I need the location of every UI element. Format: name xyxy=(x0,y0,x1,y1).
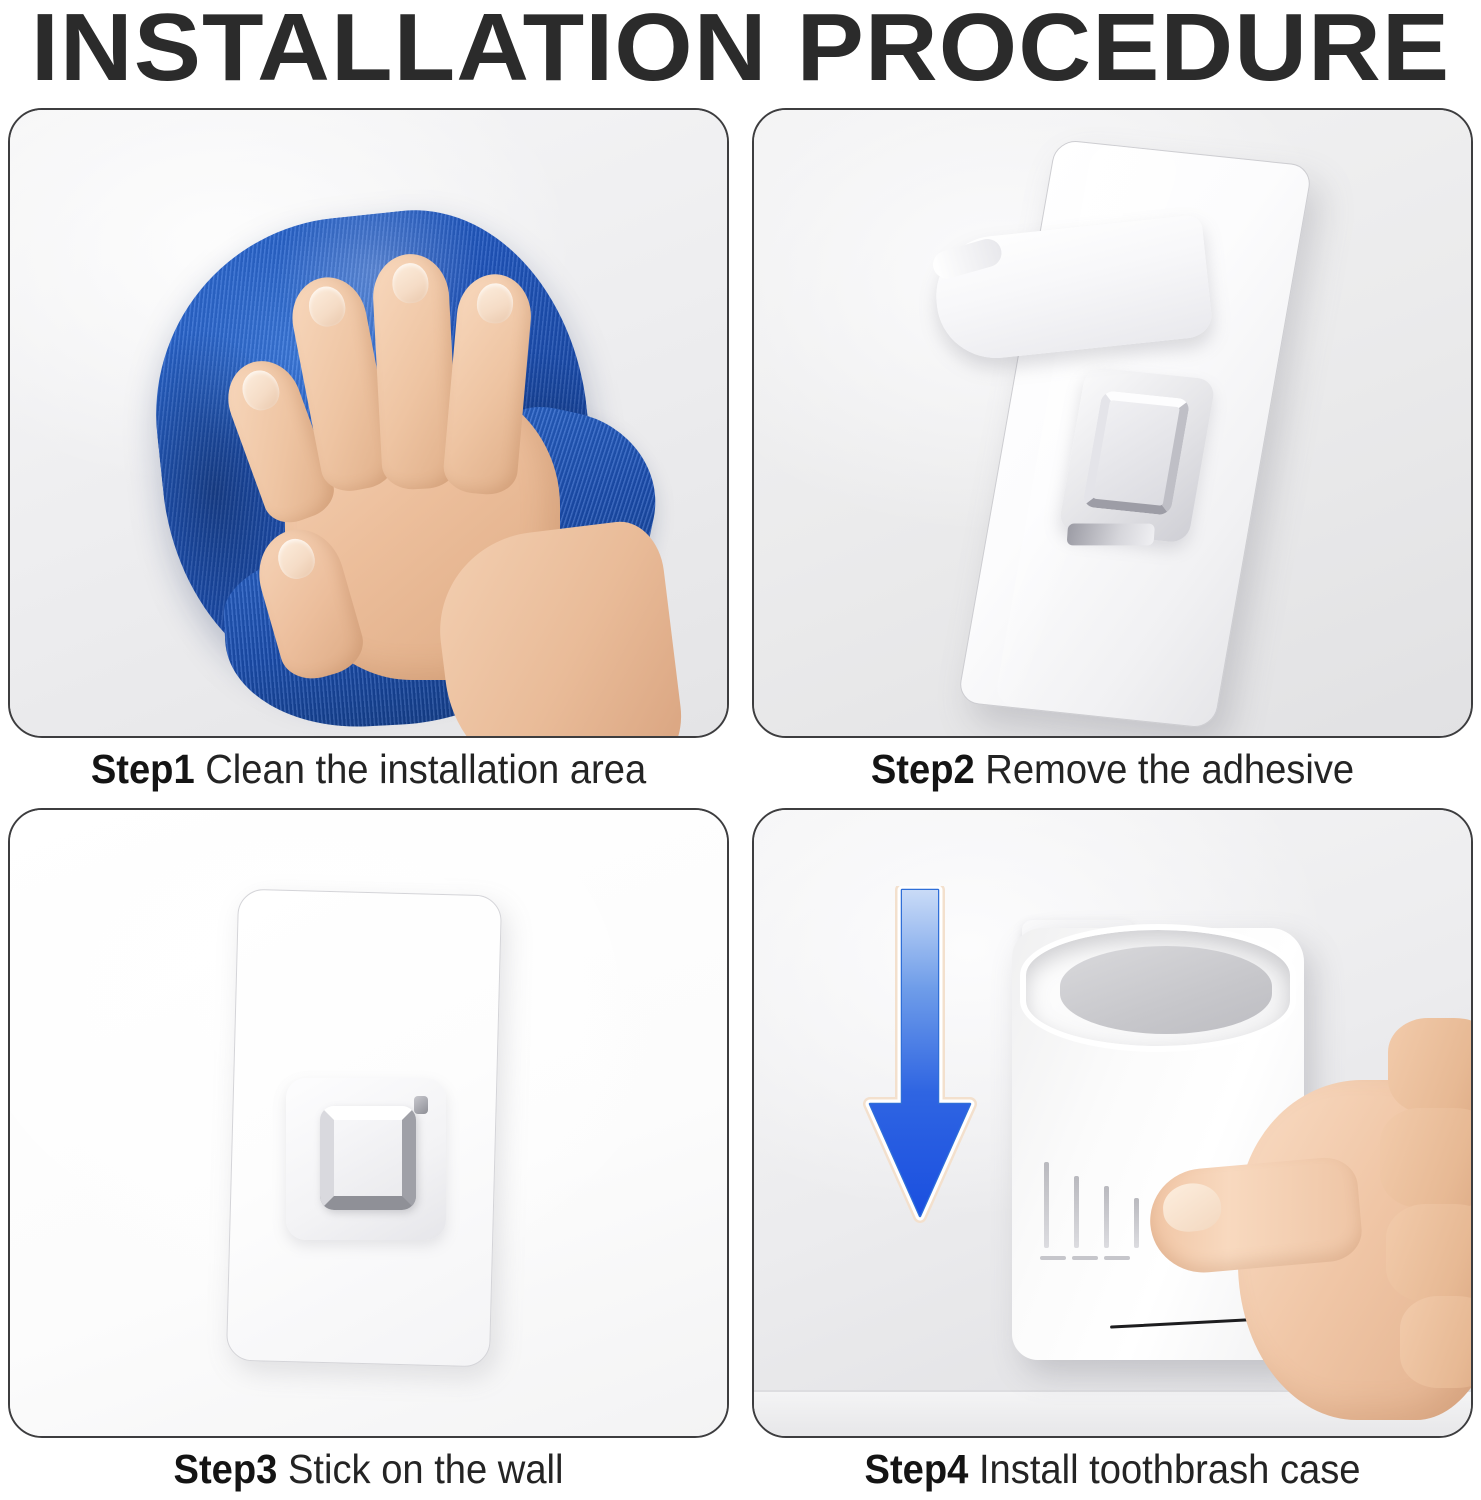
step-card-2: Step2 Remove the adhesive xyxy=(752,108,1473,798)
slot-line xyxy=(1104,1256,1130,1260)
hand-illustration xyxy=(1142,996,1473,1438)
fingernail-illustration xyxy=(391,262,429,304)
step-card-3: Step3 Stick on the wall xyxy=(8,808,729,1498)
step-card-1: Step1 Clean the installation area xyxy=(8,108,729,798)
step-1-description: Clean the installation area xyxy=(205,746,646,792)
finger-little-illustration xyxy=(1400,1296,1473,1388)
step-4-label: Step4 xyxy=(865,1446,969,1492)
hand-illustration xyxy=(225,230,645,738)
step-2-label: Step2 xyxy=(871,746,975,792)
finger-ring-illustration xyxy=(1386,1204,1473,1302)
chrome-square-hook-ring-illustration xyxy=(320,1106,416,1210)
fingernail-illustration xyxy=(475,282,514,325)
thumbnail-illustration xyxy=(274,535,320,583)
step-4-caption: Step4 Install toothbrash case xyxy=(777,1440,1448,1498)
step-1-label: Step1 xyxy=(91,746,195,792)
step-3-description: Stick on the wall xyxy=(288,1446,564,1492)
thumb-illustration xyxy=(1146,1155,1364,1277)
step-3-label: Step3 xyxy=(174,1446,278,1492)
step-2-description: Remove the adhesive xyxy=(985,746,1354,792)
step-1-image-panel xyxy=(8,108,729,738)
page-title: INSTALLATION PROCEDURE xyxy=(0,0,1481,100)
step-2-caption: Step2 Remove the adhesive xyxy=(777,740,1448,798)
slot-line xyxy=(1040,1256,1066,1260)
slot-pin xyxy=(1134,1198,1139,1248)
finger-middle-illustration xyxy=(1380,1108,1473,1208)
slot-pin xyxy=(1044,1162,1049,1248)
slot-line xyxy=(1072,1256,1098,1260)
step-4-description: Install toothbrash case xyxy=(979,1446,1361,1492)
step-3-caption: Step3 Stick on the wall xyxy=(33,1440,704,1498)
installation-procedure-infographic: INSTALLATION PROCEDURE xyxy=(0,0,1481,1500)
down-arrow-icon xyxy=(862,886,978,1246)
finger-index-illustration xyxy=(1388,1018,1473,1114)
fingernail-illustration xyxy=(237,365,285,415)
step-1-caption: Step1 Clean the installation area xyxy=(33,740,704,798)
fingernail-illustration xyxy=(306,283,349,329)
hook-clip-illustration xyxy=(414,1096,428,1114)
step-4-image-panel xyxy=(752,808,1473,1438)
step-2-image-panel xyxy=(752,108,1473,738)
slot-pin xyxy=(1104,1186,1109,1248)
steps-grid: Step1 Clean the installation area Step2 … xyxy=(0,108,1481,1500)
step-3-image-panel xyxy=(8,808,729,1438)
slot-pin xyxy=(1074,1176,1079,1248)
step-card-4: Step4 Install toothbrash case xyxy=(752,808,1473,1498)
